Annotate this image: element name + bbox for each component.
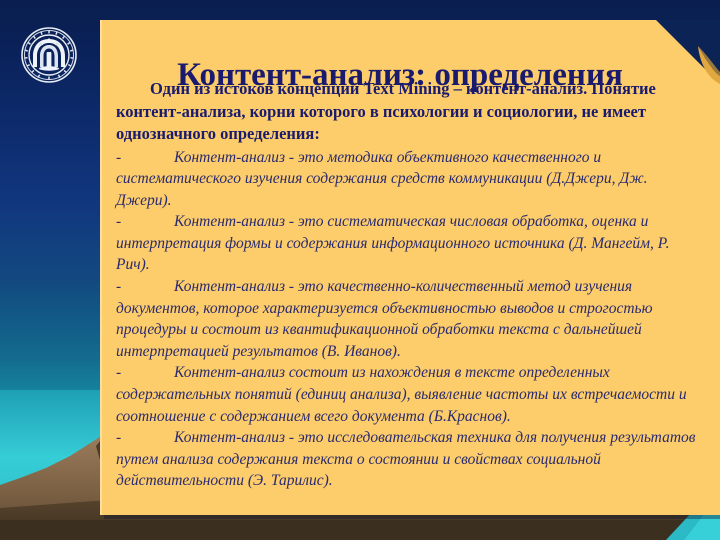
definition-item: -Контент-анализ - это исследовательская … [116,427,704,492]
definition-text: Контент-анализ - это качественно-количес… [116,278,653,360]
definition-marker: - [116,427,126,449]
intro-paragraph: Один из истоков концепции Text Mining – … [116,78,704,146]
slide-canvas: Контент-анализ: определения Один из исто… [0,0,720,540]
definition-item: -Контент-анализ - это систематическая чи… [116,211,704,276]
definition-text: Контент-анализ - это методика объективно… [116,149,648,209]
definition-item: -Контент-анализ - это качественно-количе… [116,276,704,362]
definition-marker: - [116,276,126,298]
definition-marker: - [116,147,126,169]
content-panel: Контент-анализ: определения Один из исто… [100,20,720,515]
definition-item: -Контент-анализ состоит из нахождения в … [116,362,704,427]
definitions-list: -Контент-анализ - это методика объективн… [116,147,704,493]
slide-body: Один из истоков концепции Text Mining – … [116,78,704,492]
definition-item: -Контент-анализ - это методика объективн… [116,147,704,212]
definition-text: Контент-анализ - это исследовательская т… [116,429,696,489]
intro-text: Один из истоков концепции Text Mining – … [116,79,656,143]
definition-marker: - [116,211,126,233]
definition-text: Контент-анализ - это систематическая чис… [116,213,670,273]
definition-marker: - [116,362,126,384]
university-seal-logo [21,27,77,83]
panel-left-edge [100,20,102,515]
definition-text: Контент-анализ состоит из нахождения в т… [116,364,687,424]
